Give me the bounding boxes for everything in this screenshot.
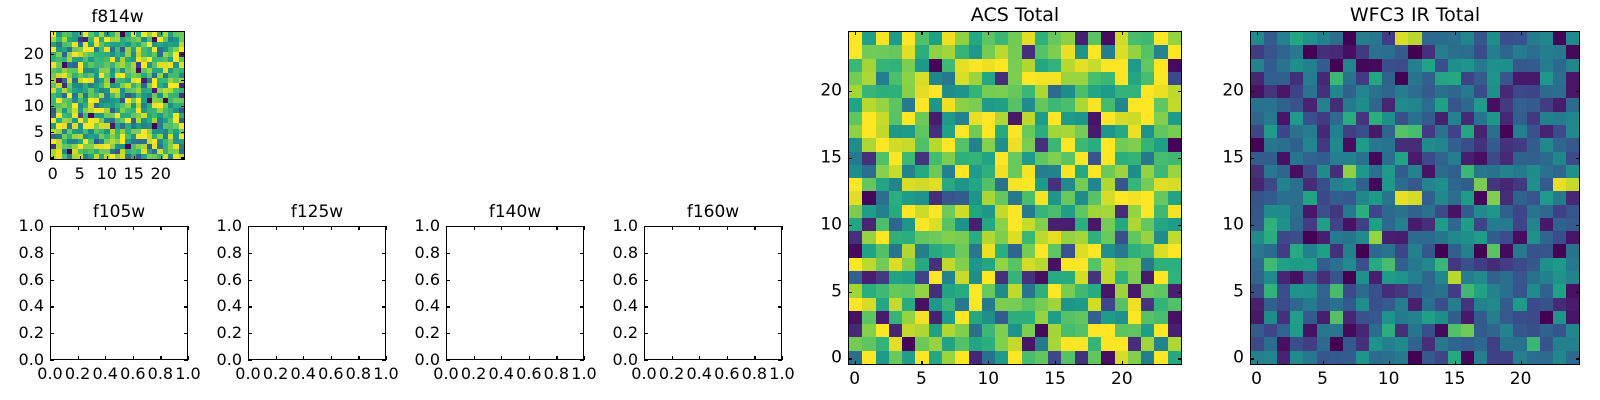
panel-title-wfc3-ir-total: WFC3 IR Total [1250,6,1580,25]
xtick-label-wfc3-ir-total-3: 15 [1444,371,1466,388]
ytick-mark-right-wfc3-ir-total-4 [1576,91,1580,92]
ytick-label-wfc3-ir-total-2: 10 [1184,216,1244,233]
xtick-mark-wfc3-ir-total-0 [1257,361,1258,365]
xtick-mark-wfc3-ir-total-4 [1521,361,1522,365]
axes-frame-wfc3-ir-total [1250,31,1580,365]
ytick-mark-wfc3-ir-total-1 [1250,292,1254,293]
ytick-mark-wfc3-ir-total-4 [1250,91,1254,92]
xtick-mark-top-wfc3-ir-total-2 [1389,31,1390,35]
ytick-mark-right-wfc3-ir-total-3 [1576,158,1580,159]
ytick-mark-right-wfc3-ir-total-0 [1576,358,1580,359]
ytick-mark-wfc3-ir-total-3 [1250,158,1254,159]
xtick-mark-top-wfc3-ir-total-1 [1323,31,1324,35]
xtick-mark-wfc3-ir-total-2 [1389,361,1390,365]
ytick-label-wfc3-ir-total-3: 15 [1184,149,1244,166]
ytick-mark-wfc3-ir-total-0 [1250,358,1254,359]
xtick-mark-top-wfc3-ir-total-3 [1455,31,1456,35]
ytick-mark-wfc3-ir-total-2 [1250,225,1254,226]
panel-wfc3-ir-total: WFC3 IR Total0510152005101520 [0,0,1600,400]
xtick-mark-wfc3-ir-total-1 [1323,361,1324,365]
heatmap-wfc3-ir-total [1251,32,1579,364]
ytick-label-wfc3-ir-total-4: 20 [1184,83,1244,100]
xtick-label-wfc3-ir-total-1: 5 [1317,371,1328,388]
xtick-label-wfc3-ir-total-0: 0 [1251,371,1262,388]
ytick-mark-right-wfc3-ir-total-2 [1576,225,1580,226]
xtick-mark-top-wfc3-ir-total-0 [1257,31,1258,35]
xtick-label-wfc3-ir-total-2: 10 [1378,371,1400,388]
ytick-label-wfc3-ir-total-0: 0 [1184,350,1244,367]
ytick-mark-right-wfc3-ir-total-1 [1576,292,1580,293]
xtick-mark-wfc3-ir-total-3 [1455,361,1456,365]
xtick-label-wfc3-ir-total-4: 20 [1510,371,1532,388]
ytick-label-wfc3-ir-total-1: 5 [1184,283,1244,300]
xtick-mark-top-wfc3-ir-total-4 [1521,31,1522,35]
